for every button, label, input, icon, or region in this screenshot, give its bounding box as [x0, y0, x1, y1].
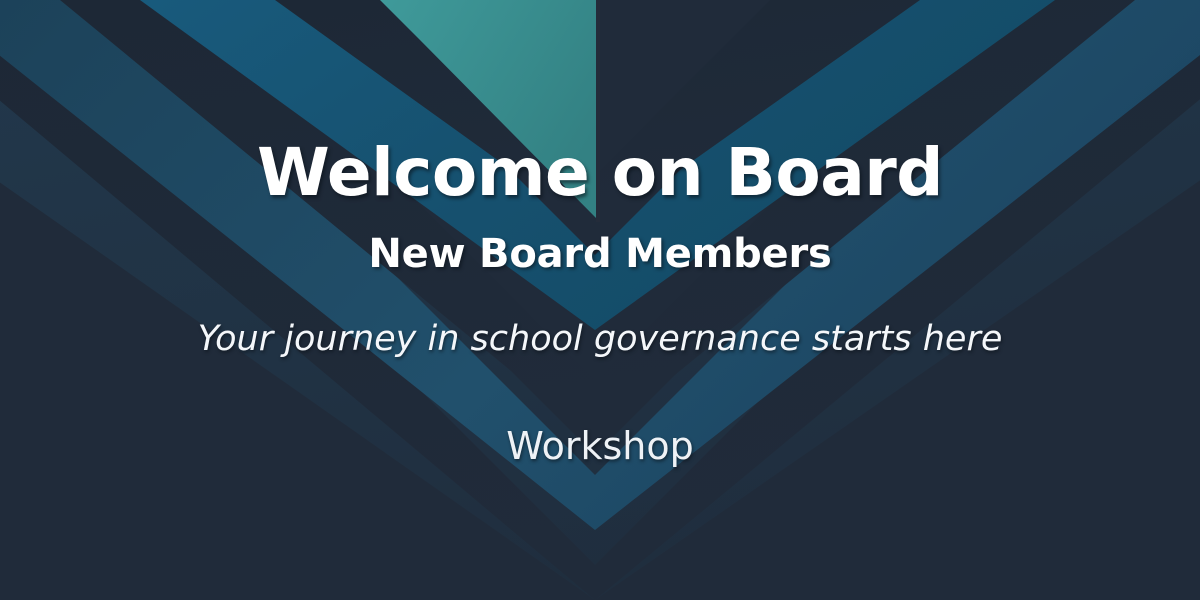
- event-banner: Welcome on Board New Board Members Your …: [0, 0, 1200, 600]
- banner-tagline: Your journey in school governance starts…: [0, 322, 1200, 357]
- banner-subtitle: New Board Members: [0, 234, 1200, 274]
- event-type-label: Workshop: [0, 427, 1200, 465]
- page-title: Welcome on Board: [0, 140, 1200, 206]
- banner-content: Welcome on Board New Board Members Your …: [0, 0, 1200, 600]
